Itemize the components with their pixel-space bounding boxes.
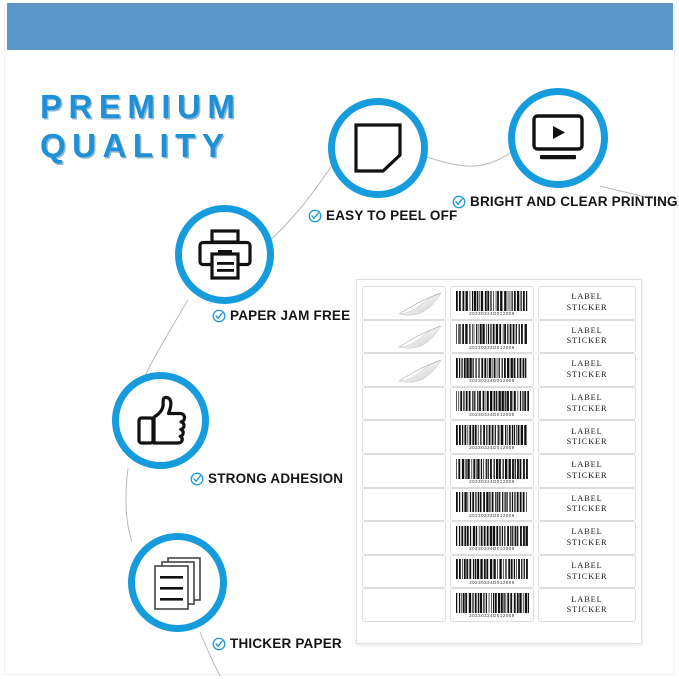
barcode-icon	[455, 324, 529, 344]
label-sheet-row: 20230324D012009LABELSTICKER	[362, 286, 636, 320]
label-sheet-row: 20230324D012009LABELSTICKER	[362, 488, 636, 522]
barcode-number: 20230324D012009	[469, 445, 515, 450]
feature-label-strong-adhesion: STRONG ADHESION	[190, 471, 343, 486]
sticker-text-line-2: STICKER	[567, 437, 608, 448]
peel-label-icon	[351, 121, 405, 175]
barcode-label-cell: 20230324D012009	[450, 320, 534, 354]
blank-label-cell	[362, 488, 446, 522]
sticker-text-line-1: LABEL	[571, 527, 602, 538]
monitor-play-icon	[530, 113, 586, 163]
blank-label-cell	[362, 555, 446, 589]
check-circle-icon	[190, 472, 204, 486]
sticker-text-line-2: STICKER	[567, 404, 608, 415]
barcode-label-cell: 20230324D012009	[450, 588, 534, 622]
sticker-text-line-2: STICKER	[567, 471, 608, 482]
label-sheet-row: 20230324D012009LABELSTICKER	[362, 454, 636, 488]
label-sheet-row: 20230324D012009LABELSTICKER	[362, 353, 636, 387]
barcode-icon	[455, 459, 529, 479]
sticker-text-cell: LABELSTICKER	[538, 488, 636, 522]
sticker-text-cell: LABELSTICKER	[538, 387, 636, 421]
feature-icon-paper-jam-free	[175, 205, 274, 304]
barcode-label-cell: 20230324D012009	[450, 488, 534, 522]
barcode-number: 20230324D012009	[469, 345, 515, 350]
sticker-text-line-1: LABEL	[571, 595, 602, 606]
feature-label-text: BRIGHT AND CLEAR PRINTING	[470, 194, 678, 209]
sticker-text-cell: LABELSTICKER	[538, 521, 636, 555]
barcode-icon	[455, 526, 529, 546]
barcode-label-cell: 20230324D012009	[450, 555, 534, 589]
barcode-number: 20230324D012009	[469, 378, 515, 383]
label-sheet-row: 20230324D012009LABELSTICKER	[362, 320, 636, 354]
infographic-page: PREMIUM QUALITY	[0, 0, 679, 679]
sticker-text-line-2: STICKER	[567, 336, 608, 347]
blank-label-cell	[362, 521, 446, 555]
label-sheet: 20230324D012009LABELSTICKER20230324D0120…	[356, 279, 642, 644]
barcode-label-cell: 20230324D012009	[450, 521, 534, 555]
feature-label-text: EASY TO PEEL OFF	[326, 208, 457, 223]
peel-corner-icon	[397, 358, 443, 384]
barcode-number: 20230324D012009	[469, 513, 515, 518]
blank-label-cell	[362, 454, 446, 488]
barcode-number: 20230324D012009	[469, 412, 515, 417]
barcode-number: 20230324D012009	[469, 479, 515, 484]
barcode-label-cell: 20230324D012009	[450, 420, 534, 454]
barcode-label-cell: 20230324D012009	[450, 286, 534, 320]
label-sheet-row: 20230324D012009LABELSTICKER	[362, 420, 636, 454]
sticker-text-cell: LABELSTICKER	[538, 588, 636, 622]
barcode-icon	[455, 291, 529, 311]
barcode-icon	[455, 492, 529, 512]
feature-icon-bright-and-clear-printing	[508, 88, 608, 188]
check-circle-icon	[212, 637, 226, 651]
sticker-text-line-1: LABEL	[571, 359, 602, 370]
sticker-text-line-2: STICKER	[567, 572, 608, 583]
barcode-number: 20230324D012009	[469, 546, 515, 551]
label-sheet-row: 20230324D012009LABELSTICKER	[362, 555, 636, 589]
barcode-icon	[455, 593, 529, 613]
feature-icon-thicker-paper	[128, 533, 227, 632]
blank-label-cell	[362, 588, 446, 622]
thumbs-up-icon	[133, 395, 189, 447]
check-circle-icon	[308, 209, 322, 223]
sticker-text-line-1: LABEL	[571, 561, 602, 572]
peel-corner-icon	[397, 291, 443, 317]
sticker-text-line-1: LABEL	[571, 427, 602, 438]
barcode-label-cell: 20230324D012009	[450, 387, 534, 421]
printer-icon	[196, 229, 254, 281]
barcode-number: 20230324D012009	[469, 613, 515, 618]
sticker-text-line-2: STICKER	[567, 605, 608, 616]
feature-label-bright-and-clear-printing: BRIGHT AND CLEAR PRINTING	[452, 194, 678, 209]
check-circle-icon	[452, 195, 466, 209]
feature-label-text: STRONG ADHESION	[208, 471, 343, 486]
feature-label-text: PAPER JAM FREE	[230, 308, 350, 323]
sticker-text-line-2: STICKER	[567, 303, 608, 314]
sticker-text-line-1: LABEL	[571, 393, 602, 404]
sticker-text-cell: LABELSTICKER	[538, 353, 636, 387]
barcode-icon	[455, 425, 529, 445]
blank-label-cell	[362, 387, 446, 421]
sticker-text-cell: LABELSTICKER	[538, 555, 636, 589]
peel-corner-icon	[397, 324, 443, 350]
sticker-text-cell: LABELSTICKER	[538, 454, 636, 488]
sticker-text-cell: LABELSTICKER	[538, 320, 636, 354]
barcode-number: 20230324D012009	[469, 580, 515, 585]
sticker-text-line-2: STICKER	[567, 370, 608, 381]
blank-label-cell	[362, 320, 446, 354]
sticker-text-line-1: LABEL	[571, 292, 602, 303]
sticker-text-cell: LABELSTICKER	[538, 286, 636, 320]
paper-stack-icon	[150, 555, 206, 611]
label-sheet-row: 20230324D012009LABELSTICKER	[362, 521, 636, 555]
barcode-number: 20230324D012009	[469, 311, 515, 316]
barcode-label-cell: 20230324D012009	[450, 454, 534, 488]
sticker-text-line-2: STICKER	[567, 504, 608, 515]
feature-label-text: THICKER PAPER	[230, 636, 342, 651]
barcode-icon	[455, 391, 529, 411]
barcode-label-cell: 20230324D012009	[450, 353, 534, 387]
label-sheet-row: 20230324D012009LABELSTICKER	[362, 588, 636, 622]
blank-label-cell	[362, 353, 446, 387]
sticker-text-line-1: LABEL	[571, 494, 602, 505]
blank-label-cell	[362, 420, 446, 454]
sticker-text-line-2: STICKER	[567, 538, 608, 549]
barcode-icon	[455, 358, 529, 378]
barcode-icon	[455, 559, 529, 579]
sticker-text-line-1: LABEL	[571, 326, 602, 337]
sticker-text-cell: LABELSTICKER	[538, 420, 636, 454]
feature-label-easy-to-peel-off: EASY TO PEEL OFF	[308, 208, 457, 223]
feature-label-thicker-paper: THICKER PAPER	[212, 636, 342, 651]
sticker-text-line-1: LABEL	[571, 460, 602, 471]
feature-label-paper-jam-free: PAPER JAM FREE	[212, 308, 350, 323]
blank-label-cell	[362, 286, 446, 320]
feature-icon-strong-adhesion	[112, 372, 209, 469]
label-sheet-row: 20230324D012009LABELSTICKER	[362, 387, 636, 421]
feature-icon-easy-to-peel-off	[328, 98, 428, 198]
check-circle-icon	[212, 309, 226, 323]
